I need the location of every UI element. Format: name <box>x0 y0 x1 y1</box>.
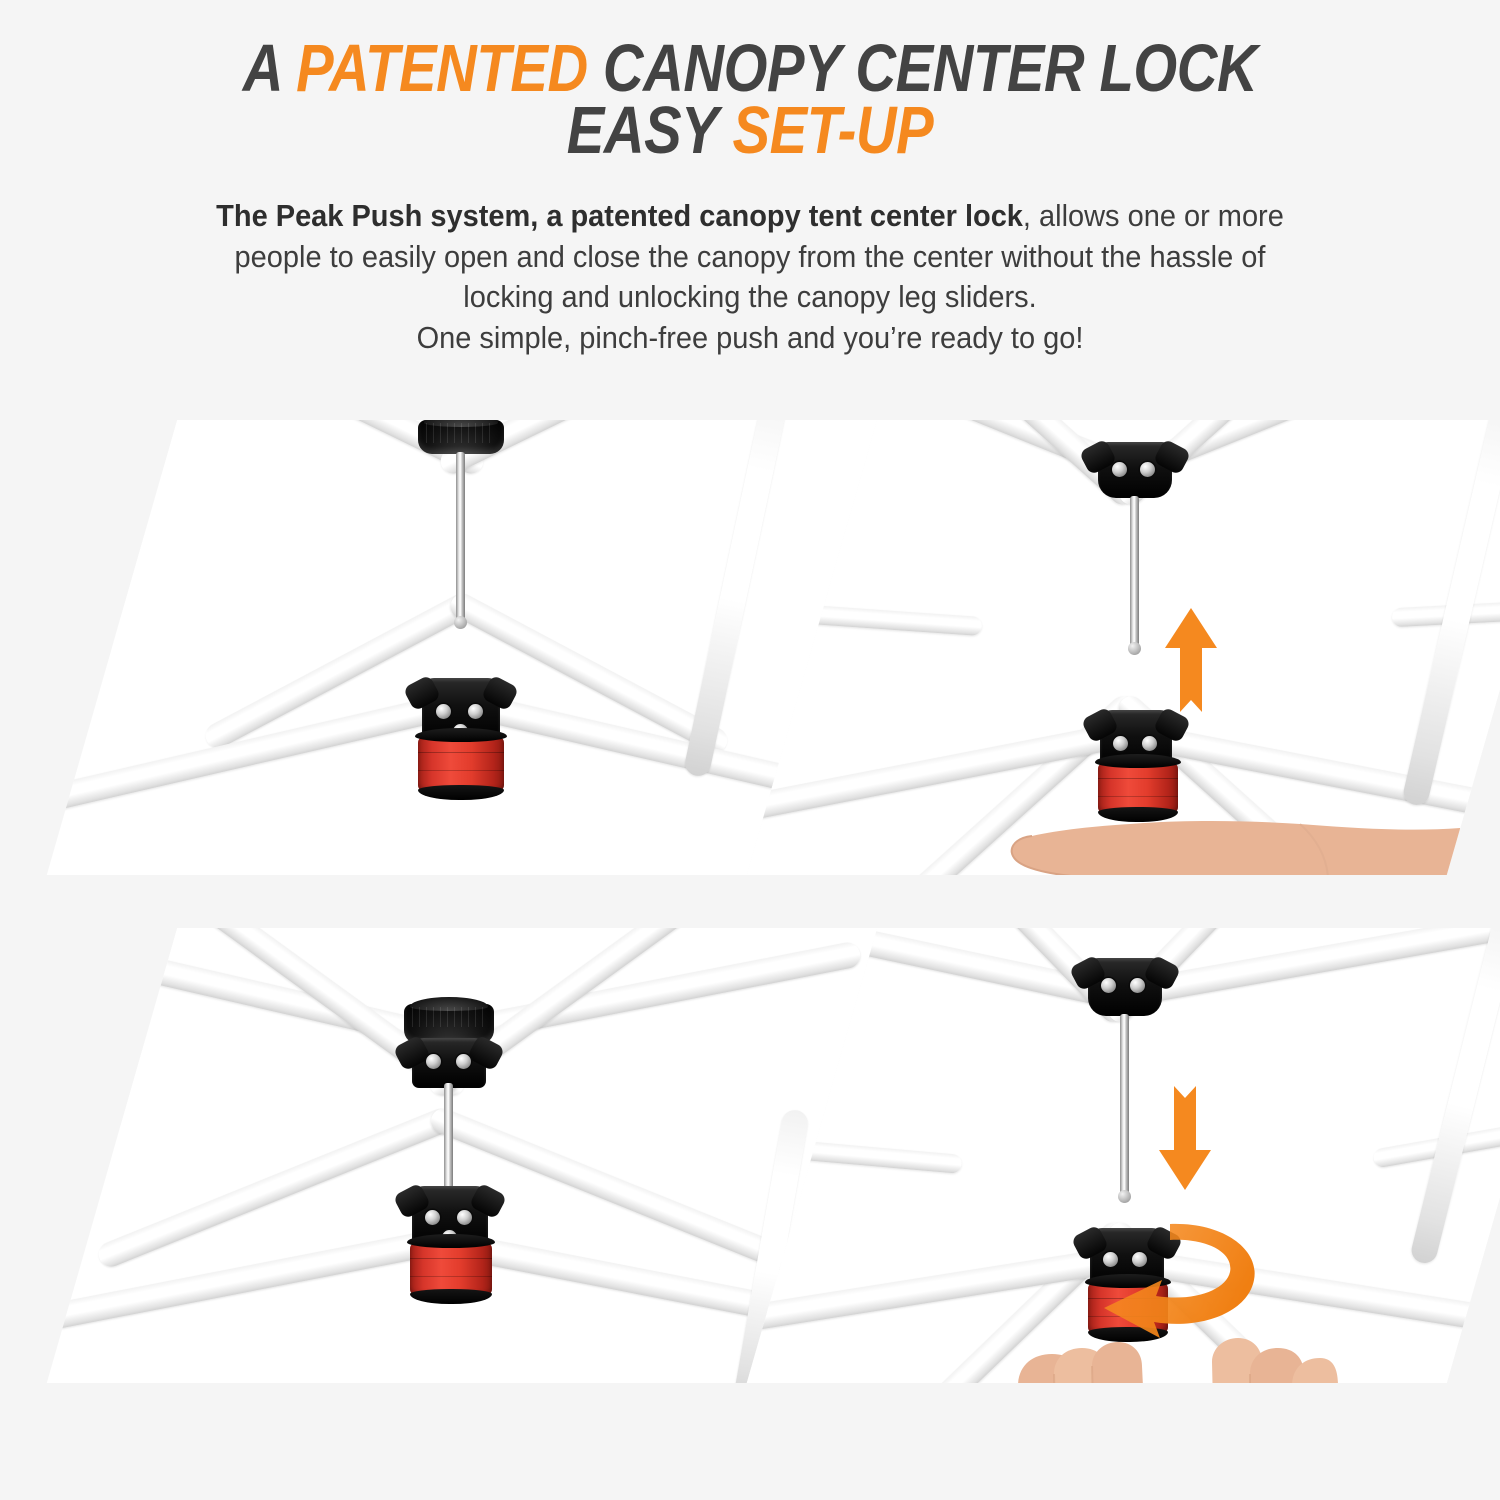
yoke-rivet <box>456 1054 471 1069</box>
frame-tube <box>1409 928 1500 1266</box>
hub-ridge <box>1098 796 1178 797</box>
hub-ridge <box>410 1276 492 1277</box>
panel-photo-bottom-left <box>112 928 812 1383</box>
yoke-rivet <box>426 1054 441 1069</box>
peak-crown-hub <box>1088 958 1162 1016</box>
yoke-rivet <box>1130 978 1145 993</box>
center-lock-pin-engaged <box>444 1083 453 1195</box>
hub-ridge <box>418 770 504 771</box>
peak-crown-hub <box>418 420 504 454</box>
crown-ribs <box>426 423 496 443</box>
peak-crown-hub <box>1098 442 1172 498</box>
crown-ribs <box>412 1007 486 1027</box>
center-lock-pin <box>1130 496 1139 646</box>
yoke-rivet <box>1101 978 1116 993</box>
frame-tube <box>683 420 792 778</box>
yoke-rivet <box>457 1210 472 1225</box>
photo-panel-canopy-frame-closed <box>47 420 877 875</box>
red-center-hub <box>410 1242 492 1296</box>
yoke-rivet <box>1140 462 1155 477</box>
yoke-rivet <box>1113 736 1128 751</box>
photo-panel-canopy-frame-push-up <box>747 420 1500 875</box>
center-lock-pin <box>456 452 465 620</box>
yoke-rivet <box>436 704 451 719</box>
red-center-hub <box>418 736 504 792</box>
hands-gripping-hub <box>1008 1300 1338 1383</box>
yoke-rivet <box>1142 736 1157 751</box>
panel-photo-bottom-right <box>812 928 1500 1383</box>
yoke-rivet <box>468 704 483 719</box>
panel-photo-top-right <box>812 420 1500 875</box>
hub-ridge <box>1098 778 1178 779</box>
yoke-wing-right <box>469 1182 508 1219</box>
pin-tip <box>1128 642 1141 655</box>
yoke-rivet <box>1112 462 1127 477</box>
pin-tip <box>1118 1190 1131 1203</box>
hub-ridge <box>418 752 504 753</box>
arrow-down-icon <box>1158 1070 1212 1190</box>
pin-tip <box>454 616 467 629</box>
hub-ridge <box>410 1258 492 1259</box>
photo-panel-canopy-frame-release-twist <box>747 928 1500 1383</box>
crown-yoke <box>412 1038 486 1088</box>
panel-photo-top-left <box>112 420 812 875</box>
yoke-rivet <box>425 1210 440 1225</box>
hand-open-palm <box>1000 798 1460 875</box>
product-photo-grid <box>0 0 1500 1500</box>
photo-panel-canopy-frame-locked <box>47 928 877 1383</box>
center-lock-pin <box>1120 1014 1129 1194</box>
